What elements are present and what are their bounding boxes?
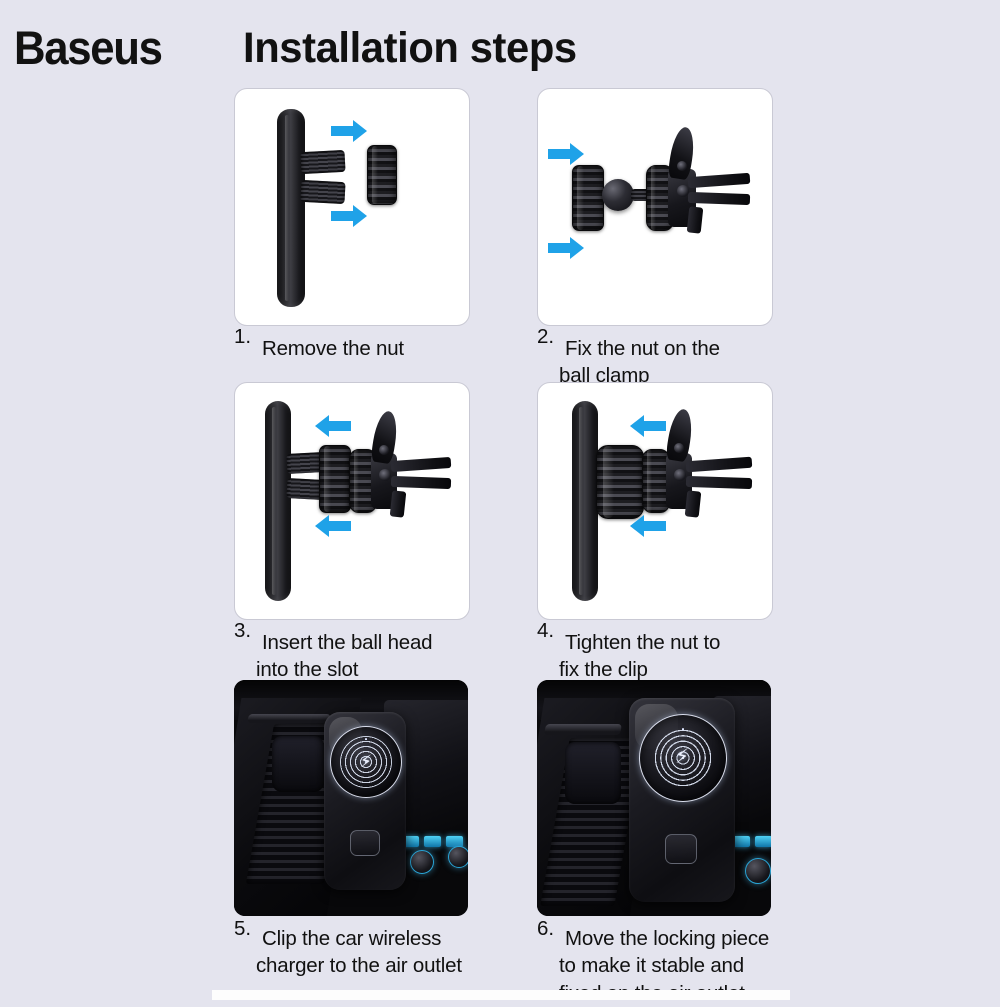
magnetic-plate	[572, 401, 598, 601]
step-4-number: 4.	[537, 619, 554, 643]
magnetic-plate	[265, 401, 291, 601]
clamp-pivot	[674, 469, 686, 481]
bottom-white-band	[212, 990, 790, 1000]
step-1-line-1: Remove the nut	[234, 335, 484, 362]
step-1-caption: Remove the nut	[234, 335, 484, 362]
thread-upper	[300, 150, 345, 174]
arrow-right-icon	[331, 120, 367, 142]
step-6: ⚡ Move the locking piece to make it stab…	[537, 680, 787, 1007]
thread-lower	[287, 478, 324, 500]
lightning-bolt-icon: ⚡	[360, 753, 372, 770]
step-3-caption: Insert the ball head into the slot	[234, 629, 484, 684]
step-5-line-1: Clip the car wireless	[234, 925, 484, 952]
arrow-left-icon	[315, 515, 351, 537]
product-illustration-tighten-nut	[538, 383, 772, 619]
photo-charger-on-air-outlet-front: ⚡	[234, 680, 468, 916]
console-button	[755, 836, 771, 847]
climate-knob	[745, 858, 771, 884]
step-1-number: 1.	[234, 325, 251, 349]
step-5-line-2: charger to the air outlet	[234, 952, 484, 979]
clamp-jaw-upper	[688, 173, 751, 188]
clamp-pivot	[674, 443, 684, 453]
console-button-row	[733, 836, 771, 847]
climate-knob	[448, 846, 468, 868]
step-4-panel	[537, 382, 773, 620]
arrow-left-icon	[630, 415, 666, 437]
step-6-line-1: Move the locking piece	[537, 925, 787, 952]
console-button	[424, 836, 441, 847]
knurled-nut	[319, 445, 351, 513]
step-3-line-1: Insert the ball head	[234, 629, 484, 656]
air-vent-trim	[247, 714, 331, 723]
arrow-right-icon	[331, 205, 367, 227]
page-header: Baseus Installation steps	[0, 0, 1000, 88]
thread-upper	[287, 452, 324, 474]
console-button	[733, 836, 750, 847]
step-4-line-1: Tighten the nut to	[537, 629, 787, 656]
ball-joint	[602, 179, 634, 211]
arrow-right-icon	[548, 143, 584, 165]
step-2: Fix the nut on the ball clamp	[537, 88, 787, 390]
step-5-number: 5.	[234, 917, 251, 941]
step-2-panel	[537, 88, 773, 326]
step-6-panel: ⚡	[537, 680, 771, 916]
arrow-right-icon	[548, 237, 584, 259]
step-3-number: 3.	[234, 619, 251, 643]
clamp-pivot	[677, 161, 687, 171]
step-4-caption: Tighten the nut to fix the clip	[537, 629, 787, 684]
clamp-foot	[390, 490, 407, 517]
step-5-panel: ⚡	[234, 680, 468, 916]
vent-clip-grip	[272, 736, 324, 792]
charger-clip-tab	[350, 830, 380, 856]
step-2-number: 2.	[537, 325, 554, 349]
console-button-row	[402, 836, 463, 847]
installation-steps-page: Baseus Installation steps	[0, 0, 1000, 1000]
magsafe-ring: ⚡	[639, 714, 727, 802]
step-6-line-2: to make it stable and	[537, 952, 787, 979]
charger-clip-tab	[665, 834, 697, 864]
thread-lower	[300, 180, 345, 204]
clamp-jaw-lower	[686, 476, 752, 489]
step-1-panel	[234, 88, 470, 326]
step-6-number: 6.	[537, 917, 554, 941]
lightning-bolt-icon: ⚡	[675, 747, 689, 767]
magnetic-plate	[277, 109, 305, 307]
wireless-charger-body: ⚡	[324, 712, 406, 890]
clamp-jaw-upper	[686, 457, 753, 473]
baseus-logo: Baseus	[14, 24, 162, 71]
arrow-left-icon	[315, 415, 351, 437]
clamp-jaw-upper	[391, 457, 452, 472]
magsafe-ring: ⚡	[330, 726, 402, 798]
page-title: Installation steps	[243, 25, 577, 72]
step-2-line-1: Fix the nut on the	[537, 335, 787, 362]
knurled-nut	[367, 145, 397, 205]
clamp-jaw-lower	[391, 476, 451, 489]
product-illustration-insert-ball-head	[235, 383, 469, 619]
step-3: Insert the ball head into the slot	[234, 382, 484, 684]
vent-clip-grip	[565, 742, 621, 804]
clamp-foot	[685, 490, 702, 517]
step-1: Remove the nut	[234, 88, 484, 362]
climate-knob	[410, 850, 434, 874]
clamp-pivot	[379, 445, 389, 455]
step-5-caption: Clip the car wireless charger to the air…	[234, 925, 484, 980]
arrow-left-icon	[630, 515, 666, 537]
product-illustration-remove-nut	[235, 89, 469, 325]
clamp-foot	[687, 206, 704, 233]
clamp-pivot	[379, 469, 391, 481]
photo-charger-locking-piece: ⚡	[537, 680, 771, 916]
air-vent-trim	[544, 724, 622, 735]
knurled-nut-tightened	[596, 445, 644, 519]
step-3-panel	[234, 382, 470, 620]
clamp-jaw-lower	[688, 192, 750, 205]
knurled-nut	[572, 165, 604, 231]
product-illustration-fix-nut-ball-clamp	[538, 89, 772, 325]
step-4: Tighten the nut to fix the clip	[537, 382, 787, 684]
step-5: ⚡ Clip the car wireless charger to the a…	[234, 680, 484, 980]
wireless-charger-body: ⚡	[629, 698, 735, 902]
